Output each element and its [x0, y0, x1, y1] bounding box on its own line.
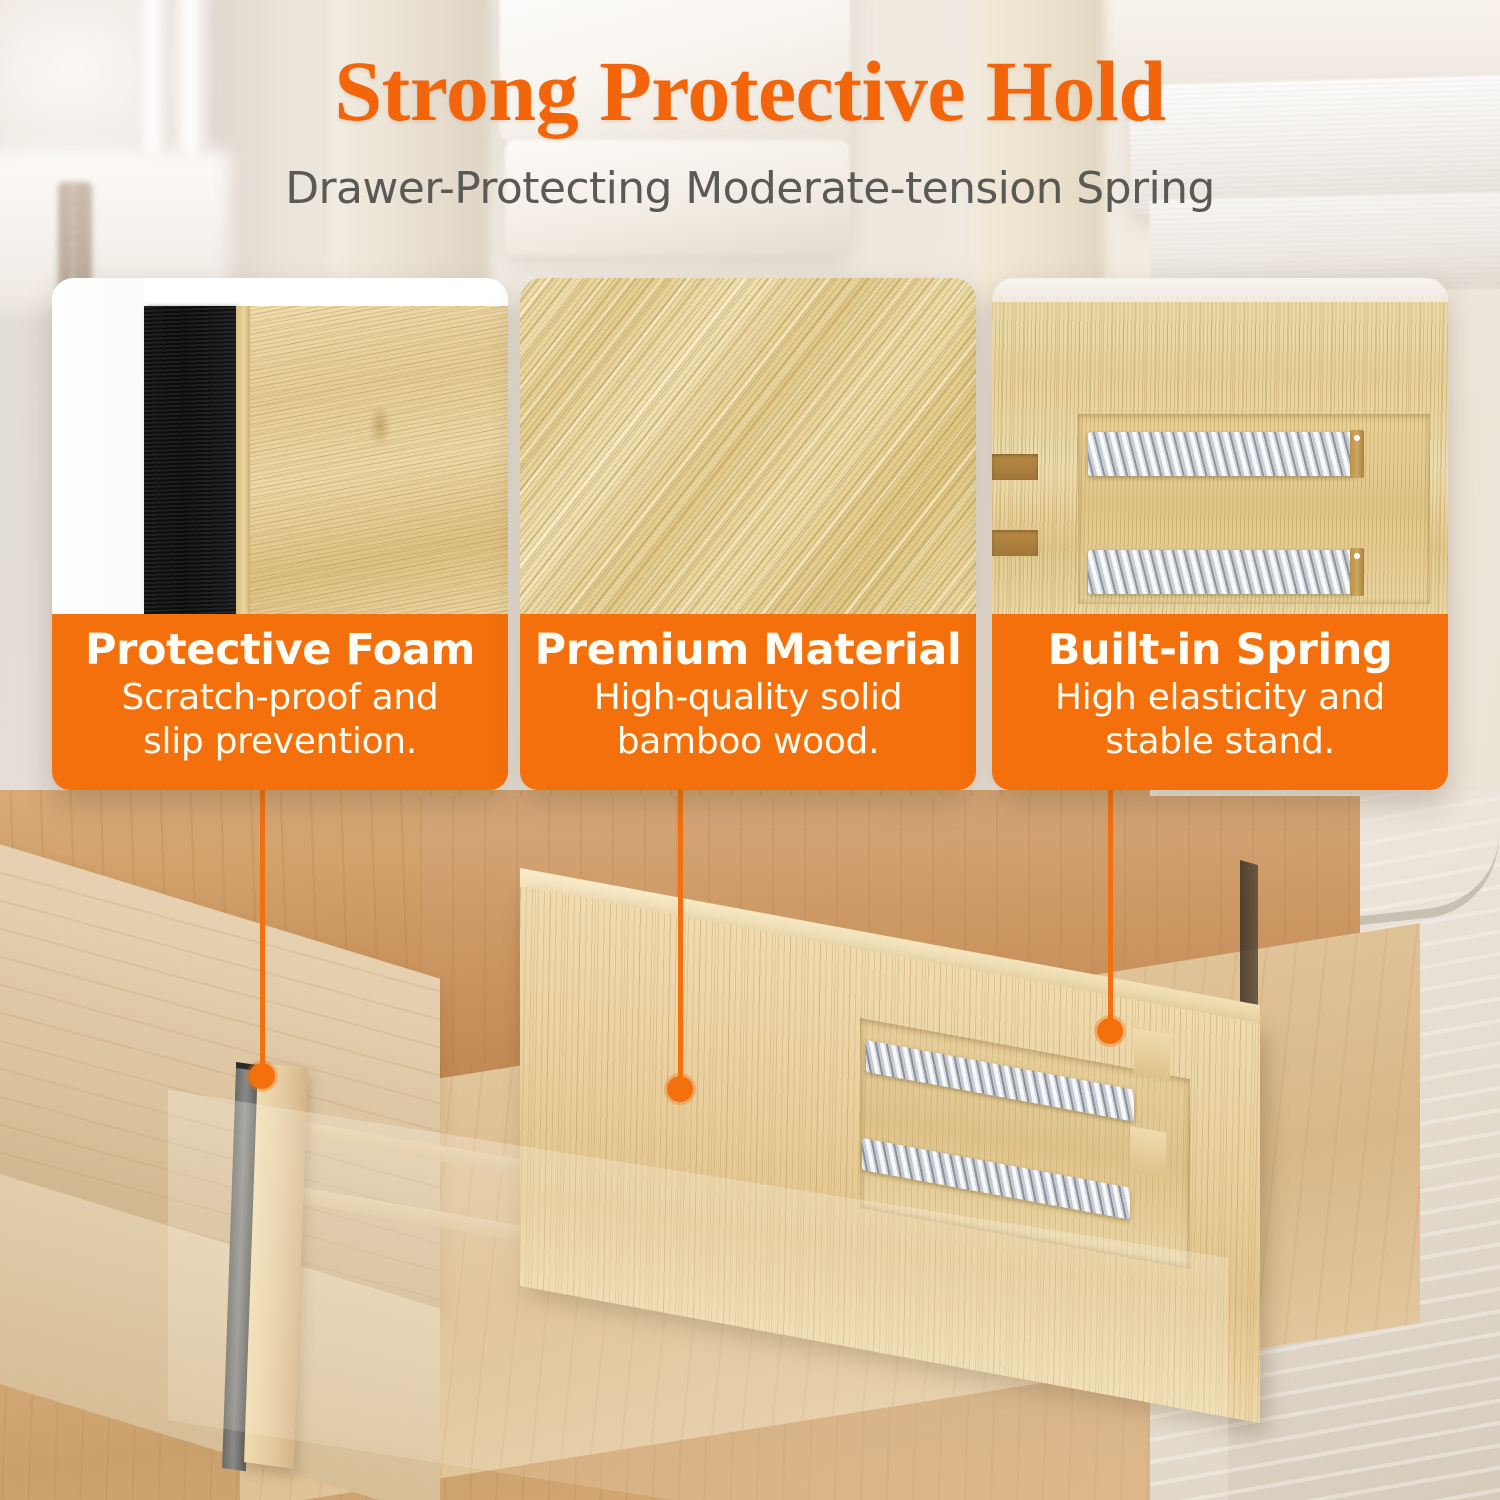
hero-spring-upper-anchor: [1134, 1028, 1170, 1081]
bamboo-grain-closeup: [520, 278, 976, 614]
bamboo-panel-edge: [236, 306, 250, 614]
foam-photo-composition: [52, 278, 508, 614]
spring-photo-composition: [992, 278, 1448, 614]
feature-card-premium-material[interactable]: Premium Material High-quality solid bamb…: [520, 278, 976, 790]
coil-spring-upper: [1088, 432, 1354, 476]
feature-card-built-in-spring[interactable]: Built-in Spring High elasticity and stab…: [992, 278, 1448, 790]
feature-title: Built-in Spring: [992, 626, 1448, 674]
feature-photo-premium-material: [520, 278, 976, 614]
callout-line-material: [678, 790, 683, 1090]
callout-line-foam: [260, 790, 265, 1078]
feature-description-line-1: High-quality solid: [520, 676, 976, 720]
hero-product-photo: [0, 790, 1500, 1500]
feature-card-protective-foam[interactable]: Protective Foam Scratch-proof and slip p…: [52, 278, 508, 790]
coil-spring-lower-anchor: [1350, 548, 1364, 596]
feature-description-line-2: stable stand.: [992, 720, 1448, 764]
feature-label-premium-material: Premium Material High-quality solid bamb…: [520, 614, 976, 790]
feature-description-line-2: slip prevention.: [52, 720, 508, 764]
hero-spring-lower-anchor: [1130, 1126, 1166, 1179]
callout-dot-foam: [249, 1063, 275, 1089]
feature-title: Premium Material: [520, 626, 976, 674]
photo-top-backdrop: [992, 278, 1448, 302]
feature-label-built-in-spring: Built-in Spring High elasticity and stab…: [992, 614, 1448, 790]
bamboo-notch-upper: [992, 454, 1038, 480]
feature-photo-protective-foam: [52, 278, 508, 614]
coil-spring-upper-anchor: [1350, 430, 1364, 478]
feature-description-line-1: High elasticity and: [992, 676, 1448, 720]
coil-spring-lower: [1088, 550, 1354, 594]
callout-line-spring: [1108, 790, 1113, 1033]
page-title: Strong Protective Hold: [0, 48, 1500, 134]
feature-label-protective-foam: Protective Foam Scratch-proof and slip p…: [52, 614, 508, 790]
feature-description-line-1: Scratch-proof and: [52, 676, 508, 720]
feature-description-line-2: bamboo wood.: [520, 720, 976, 764]
black-foam-strip: [144, 306, 236, 614]
infographic-root: Strong Protective Hold Drawer-Protecting…: [0, 0, 1500, 1500]
page-subtitle: Drawer-Protecting Moderate-tension Sprin…: [0, 163, 1500, 214]
bamboo-notch-lower: [992, 530, 1038, 556]
photo-white-backdrop: [52, 278, 144, 614]
feature-photo-built-in-spring: [992, 278, 1448, 614]
callout-dot-spring: [1097, 1018, 1123, 1044]
bamboo-panel-face: [250, 306, 508, 614]
feature-title: Protective Foam: [52, 626, 508, 674]
callout-dot-material: [667, 1076, 693, 1102]
